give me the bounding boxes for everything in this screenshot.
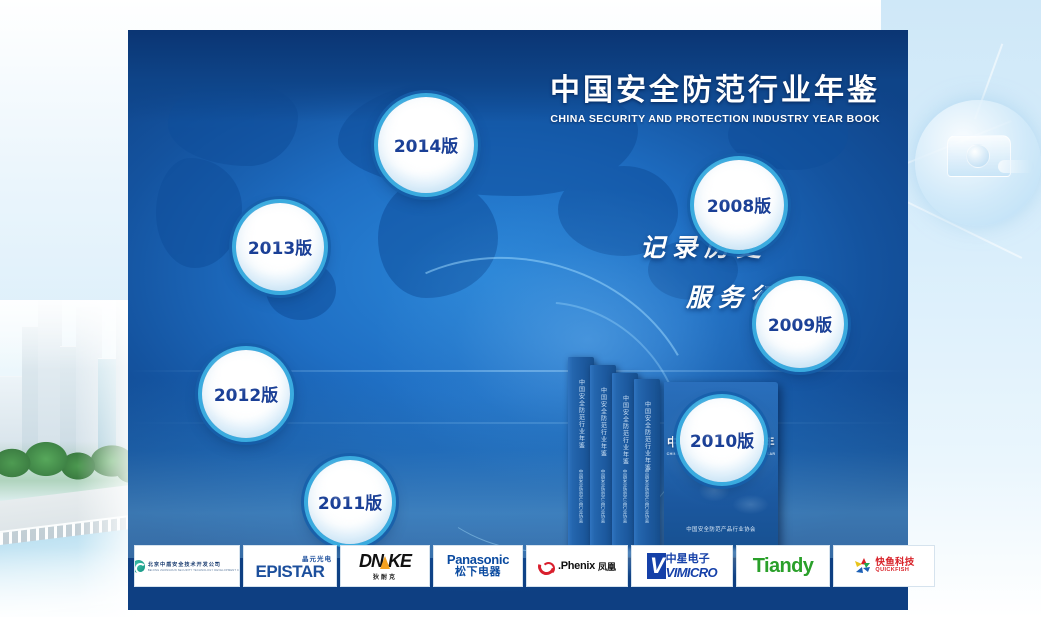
sponsor-name-en: .Phenix: [558, 560, 595, 572]
page-subtitle: CHINA SECURITY AND PROTECTION INDUSTRY Y…: [550, 113, 880, 125]
edition-bubble-2013[interactable]: 2013版: [236, 203, 324, 291]
edition-bubble-2008[interactable]: 2008版: [694, 160, 784, 250]
poster-stage: 中国安全防范行业年鉴 CHINA SECURITY AND PROTECTION…: [0, 0, 1041, 617]
book-cover-publisher: 中国安全防范产品行业协会: [664, 525, 778, 533]
sponsor-name-cn: 松下电器: [455, 567, 501, 579]
edition-bubble-2012[interactable]: 2012版: [202, 350, 290, 438]
book-spine-title: 中国安全防范行业年鉴: [621, 395, 630, 465]
sponsor-logo-tiandy[interactable]: Tiandy: [736, 545, 830, 587]
book-spine-title: 中国安全防范行业年鉴: [643, 401, 652, 471]
book-spine-title: 中国安全防范行业年鉴: [577, 379, 586, 449]
sponsor-logo-epistar[interactable]: 晶元光电 EPISTAR: [243, 545, 337, 587]
sponsor-name-en: EPISTAR: [256, 563, 325, 580]
sponsor-name-en: Tiandy: [753, 555, 814, 578]
sponsor-name-cn: 凤凰: [598, 560, 616, 573]
edition-bubble-2009[interactable]: 2009版: [756, 280, 844, 368]
sponsor-logo-dnake[interactable]: DNKE 狄耐克: [340, 545, 430, 587]
edition-label: 2009版: [768, 311, 832, 336]
edition-label: 2012版: [214, 381, 278, 406]
sponsor-name-cn: 北京中盾安全技术开发公司: [148, 561, 221, 568]
book-spine-publisher: 中国安全防范产品行业协会: [622, 469, 628, 523]
vimicro-v-mark-icon: V: [647, 553, 666, 579]
phenix-swirl-icon: [538, 558, 555, 575]
sponsor-logo-vimicro[interactable]: V 中星电子 VIMICRO: [631, 545, 733, 587]
sponsor-name-en: Panasonic: [447, 553, 509, 567]
sponsor-name-en: BEIJING ZHONGDUN SECURITY TECHNOLOGY DEV…: [148, 569, 240, 572]
sponsor-name-cn: 狄耐克: [373, 572, 397, 581]
sponsor-name-cn: 晶元光电: [302, 553, 332, 563]
sponsor-name-en: VIMICRO: [666, 566, 717, 579]
page-title: 中国安全防范行业年鉴: [550, 74, 880, 107]
zhongdun-emblem-icon: [134, 560, 145, 573]
camera-lens-icon: [966, 144, 990, 168]
sponsor-logo-quickfish[interactable]: 快鱼科技 QUICKFISH: [833, 545, 935, 587]
edition-label: 2010版: [690, 427, 754, 452]
book-spine-publisher: 中国安全防范产品行业协会: [578, 469, 584, 523]
sponsor-name-cn: 中星电子: [666, 554, 710, 565]
sponsor-logo-bar: 北京中盾安全技术开发公司 BEIJING ZHONGDUN SECURITY T…: [128, 545, 908, 587]
main-poster-panel: 中国安全防范行业年鉴 CHINA SECURITY AND PROTECTION…: [128, 30, 908, 610]
quickfish-star-icon: [853, 558, 872, 575]
book-spine-publisher: 中国安全防范产品行业协会: [644, 469, 650, 523]
edition-bubble-2014[interactable]: 2014版: [378, 97, 474, 193]
sponsor-logo-panasonic[interactable]: Panasonic 松下电器: [433, 545, 523, 587]
cityscape-photo: [0, 300, 140, 617]
book-spine: 中国安全防范行业年鉴 中国安全防范产品行业协会: [634, 379, 660, 557]
edition-label: 2011版: [318, 489, 382, 514]
dnake-triangle-icon: [380, 556, 390, 569]
book-spine-publisher: 中国安全防范产品行业协会: [600, 469, 606, 523]
sponsor-logo-zhongdun[interactable]: 北京中盾安全技术开发公司 BEIJING ZHONGDUN SECURITY T…: [134, 545, 240, 587]
sponsor-name-en: QUICKFISH: [875, 568, 909, 574]
book-spine-title: 中国安全防范行业年鉴: [599, 387, 608, 457]
sponsor-name-en: DNKE: [359, 551, 411, 572]
camera-arm-icon: [998, 160, 1034, 173]
edition-label: 2013版: [248, 234, 312, 259]
edition-bubble-2010[interactable]: 2010版: [680, 398, 764, 482]
edition-label: 2014版: [394, 132, 458, 157]
sponsor-logo-phenix[interactable]: .Phenix 凤凰: [526, 545, 628, 587]
edition-bubble-2011[interactable]: 2011版: [308, 460, 392, 544]
edition-label: 2008版: [707, 192, 771, 217]
poster-title-block: 中国安全防范行业年鉴 CHINA SECURITY AND PROTECTION…: [550, 74, 880, 125]
